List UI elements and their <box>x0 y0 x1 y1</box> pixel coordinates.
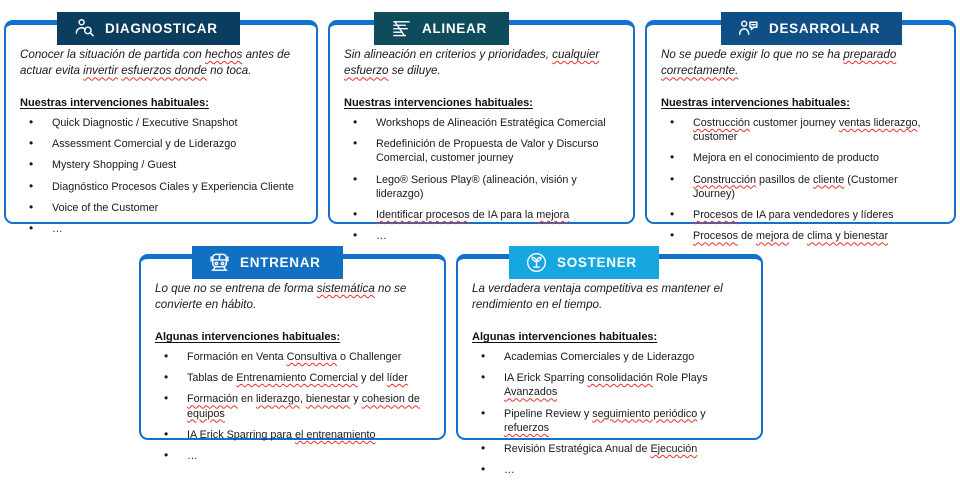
list-item: Pipeline Review y seguimiento periódico … <box>472 407 747 436</box>
text-run: La verdadera ventaja competitiva es mant… <box>472 282 723 311</box>
card-lead: Sin alineación en criterios y prioridade… <box>344 47 619 80</box>
spellcheck-text-run: Avanzados <box>504 386 557 398</box>
text-run: Sin alineación en criterios y prioridade… <box>344 48 552 61</box>
list-item: Procesos de IA para vendedores y líderes <box>661 208 940 222</box>
card-header-sostener: SOSTENER <box>509 246 659 279</box>
text-run: No se puede exigir lo que no se ha <box>661 48 843 61</box>
list-item: Quick Diagnostic / Executive Snapshot <box>20 116 302 130</box>
person-speech-icon <box>737 17 760 40</box>
text-run: IA Erick Sparring para <box>187 429 295 441</box>
card-body-entrenar: Lo que no se entrena de forma sistemátic… <box>141 259 444 474</box>
text-run: se diluye. <box>388 64 440 77</box>
card-body-alinear: Sin alineación en criterios y prioridade… <box>330 25 633 255</box>
list-item: Mejora en el conocimiento de producto <box>661 151 940 165</box>
text-run: y <box>697 408 705 420</box>
spellcheck-text-run: Procesos <box>693 209 738 221</box>
list-item: Workshops de Alineación Estratégica Come… <box>344 116 619 130</box>
spellcheck-text-run: Identificar procesos <box>376 209 470 221</box>
text-run: no toca. <box>207 64 251 77</box>
list-item: Academias Comerciales y de Liderazgo <box>472 350 747 364</box>
card-lead: Lo que no se entrena de forma sistemátic… <box>155 281 430 314</box>
card-item-list: Quick Diagnostic / Executive SnapshotAss… <box>20 116 302 237</box>
list-item: Mystery Shopping / Guest <box>20 158 302 172</box>
list-item: … <box>344 229 619 243</box>
card-item-list: Formación en Venta Consultiva o Challeng… <box>155 350 430 464</box>
list-item: Construcción pasillos de cliente (Custom… <box>661 173 940 202</box>
spellcheck-text-run: cliente <box>813 174 844 186</box>
spellcheck-text-run: hechos <box>205 48 242 61</box>
process-cards-board: DIAGNOSTICAR Conocer la situación de par… <box>0 0 960 450</box>
text-run: IA Erick Sparring <box>504 372 587 384</box>
list-item: Tablas de Entrenamiento Comercial y del … <box>155 371 430 385</box>
leaf-circle-icon <box>525 251 548 274</box>
spellcheck-text-run: clima y bienestar <box>807 230 888 242</box>
card-lead: Conocer la situación de partida con hech… <box>20 47 302 80</box>
spellcheck-text-run: Consultiva <box>287 351 337 363</box>
card-subhead: Nuestras intervenciones habituales: <box>344 97 533 109</box>
card-body-diagnosticar: Conocer la situación de partida con hech… <box>6 25 316 247</box>
spellcheck-text-run: Construcción <box>693 174 756 186</box>
card-title: ENTRENAR <box>240 256 321 270</box>
card-header-entrenar: ENTRENAR <box>192 246 343 279</box>
spellcheck-text-run: consolidación <box>587 372 652 384</box>
spellcheck-text-run: sistemática <box>317 282 375 295</box>
spellcheck-text-run: líder <box>387 372 408 384</box>
spellcheck-text-run: Formación <box>187 393 238 405</box>
text-run: Redefinición de Propuesta de Valor y Dis… <box>376 138 598 164</box>
text-run: Conocer la situación de partida con <box>20 48 205 61</box>
card-entrenar[interactable]: ENTRENAR Lo que no se entrena de forma s… <box>139 254 446 440</box>
text-run: Academias Comerciales y de Liderazgo <box>504 351 694 363</box>
card-diagnosticar[interactable]: DIAGNOSTICAR Conocer la situación de par… <box>4 20 318 224</box>
text-run: Lego® Serious Play® (alineación, visión … <box>376 174 577 200</box>
card-item-list: Costrucción customer journey ventas lide… <box>661 116 940 265</box>
card-subhead: Nuestras intervenciones habituales: <box>20 97 209 109</box>
spellcheck-text-run: bienestar <box>306 393 350 405</box>
person-magnifier-icon <box>73 17 96 40</box>
card-lead: No se puede exigir lo que no se ha prepa… <box>661 47 940 80</box>
text-run: … <box>504 464 515 476</box>
text-run: Diagnóstico Procesos Ciales y Experienci… <box>52 181 294 193</box>
text-run: o Challenger <box>337 351 401 363</box>
card-lead: La verdadera ventaja competitiva es mant… <box>472 281 747 314</box>
text-run: en <box>238 393 256 405</box>
text-run: y del <box>358 372 387 384</box>
text-run: y <box>350 393 361 405</box>
spellcheck-text-run: Procesos <box>693 230 738 242</box>
card-body-sostener: La verdadera ventaja competitiva es mant… <box>458 259 761 489</box>
spellcheck-text-run: mejora <box>756 230 789 242</box>
spellcheck-text-run: Ejecución <box>650 443 697 455</box>
card-subhead: Algunas intervenciones habituales: <box>155 331 340 343</box>
card-header-diagnosticar: DIAGNOSTICAR <box>57 12 240 45</box>
text-run: Assessment Comercial y de Liderazgo <box>52 138 236 150</box>
spellcheck-text-run: el entrenamiento <box>295 429 375 441</box>
card-title: SOSTENER <box>557 256 637 270</box>
list-item: Identificar procesos de IA para la mejor… <box>344 208 619 222</box>
list-item: … <box>155 449 430 463</box>
list-item: … <box>472 463 747 477</box>
spellcheck-text-run: Costrucción <box>693 117 750 129</box>
spellcheck-text-run: ventas liderazgo <box>839 117 918 129</box>
card-header-alinear: ALINEAR <box>374 12 509 45</box>
card-subhead: Algunas intervenciones habituales: <box>472 331 657 343</box>
list-item: IA Erick Sparring para el entrenamiento <box>155 428 430 442</box>
text-run: Mejora en el conocimiento de producto <box>693 152 879 164</box>
text-run: Pipeline Review y <box>504 408 592 420</box>
spellcheck-text-run: mejora <box>536 209 569 221</box>
text-run: … <box>187 450 198 462</box>
text-run: customer journey <box>750 117 839 129</box>
list-item: Formación en Venta Consultiva o Challeng… <box>155 350 430 364</box>
spellcheck-text-run: seguimiento periódico <box>592 408 697 420</box>
text-run: de <box>789 230 807 242</box>
list-item: Lego® Serious Play® (alineación, visión … <box>344 173 619 202</box>
card-alinear[interactable]: ALINEAR Sin alineación en criterios y pr… <box>328 20 635 224</box>
card-item-list: Workshops de Alineación Estratégica Come… <box>344 116 619 244</box>
text-run: Quick Diagnostic / Executive Snapshot <box>52 117 237 129</box>
text-run: … <box>376 230 387 242</box>
card-title: DIAGNOSTICAR <box>105 22 218 36</box>
list-item: Diagnóstico Procesos Ciales y Experienci… <box>20 180 302 194</box>
text-run: de IA para vendedores y líderes <box>738 209 893 221</box>
list-item: IA Erick Sparring consolidación Role Pla… <box>472 371 747 400</box>
spellcheck-text-run: esfuerzos donde <box>121 64 207 77</box>
card-header-desarrollar: DESARROLLAR <box>721 12 902 45</box>
train-icon <box>208 251 231 274</box>
text-run: Formación en Venta <box>187 351 287 363</box>
text-run: Revisión Estratégica Anual de <box>504 443 650 455</box>
text-run: … <box>52 223 63 235</box>
text-run: Role Plays <box>653 372 708 384</box>
text-run: de <box>738 230 756 242</box>
card-desarrollar[interactable]: DESARROLLAR No se puede exigir lo que no… <box>645 20 956 224</box>
text-run: Workshops de Alineación Estratégica Come… <box>376 117 606 129</box>
text-run: pasillos de <box>756 174 813 186</box>
spellcheck-text-run: refuerzos <box>504 422 549 434</box>
text-run: Tablas de <box>187 372 236 384</box>
list-item: Revisión Estratégica Anual de Ejecución <box>472 442 747 456</box>
text-run: Mystery Shopping / Guest <box>52 159 176 171</box>
list-item: … <box>20 222 302 236</box>
list-item: Voice of the Customer <box>20 201 302 215</box>
list-item: Costrucción customer journey ventas lide… <box>661 116 940 145</box>
card-item-list: Academias Comerciales y de LiderazgoIA E… <box>472 350 747 478</box>
text-run: Voice of the Customer <box>52 202 158 214</box>
list-item: Redefinición de Propuesta de Valor y Dis… <box>344 137 619 166</box>
alignment-lines-icon <box>390 17 413 40</box>
spellcheck-text-run: liderazgo <box>256 393 300 405</box>
list-item: Formación en liderazgo, bienestar y cohe… <box>155 392 430 421</box>
card-title: ALINEAR <box>422 22 487 36</box>
card-sostener[interactable]: SOSTENER La verdadera ventaja competitiv… <box>456 254 763 440</box>
spellcheck-text-run: Entrenamiento Comercial <box>236 372 358 384</box>
list-item: Assessment Comercial y de Liderazgo <box>20 137 302 151</box>
text-run: de IA para la <box>470 209 537 221</box>
card-body-desarrollar: No se puede exigir lo que no se ha prepa… <box>647 25 954 276</box>
card-subhead: Nuestras intervenciones habituales: <box>661 97 850 109</box>
spellcheck-text-run: invertir <box>83 64 118 77</box>
text-run: Lo que no se entrena de forma <box>155 282 317 295</box>
list-item: Procesos de mejora de clima y bienestar <box>661 229 940 243</box>
card-title: DESARROLLAR <box>769 22 880 36</box>
